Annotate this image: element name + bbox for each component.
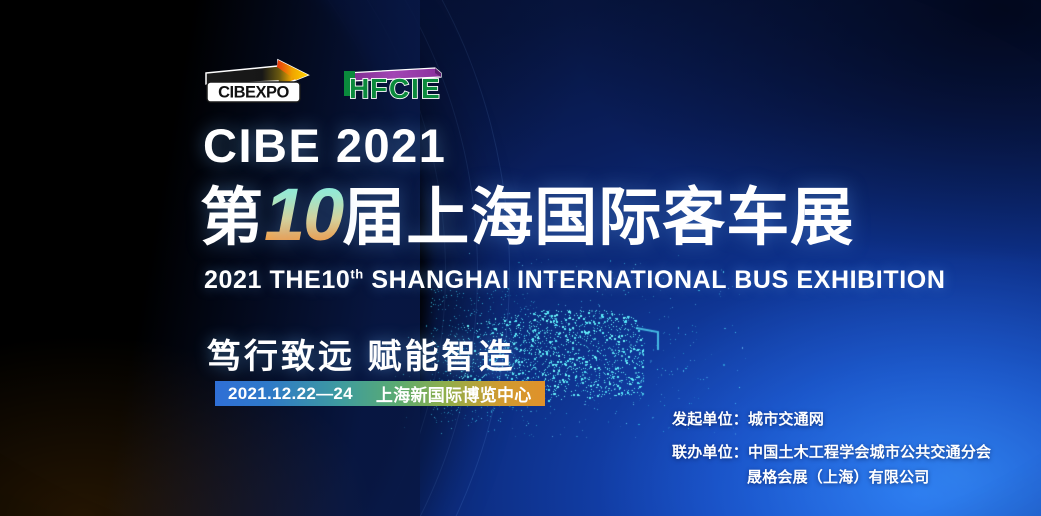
organizer-label: 联办单位： xyxy=(672,441,748,465)
svg-text:E: E xyxy=(421,73,439,104)
slogan-text: 笃行致远 赋能智造 xyxy=(207,329,515,378)
organizer-row: 联办单位： 中国土木工程学会城市公共交通分会 xyxy=(672,441,991,465)
subtitle-english: 2021 THE10th SHANGHAI INTERNATIONAL BUS … xyxy=(204,266,945,295)
subtitle-post: SHANGHAI INTERNATIONAL BUS EXHIBITION xyxy=(364,266,946,294)
organizer-value: 晟格会展（上海）有限公司 xyxy=(672,466,929,490)
event-venue: 上海新国际博览中心 xyxy=(376,381,532,406)
svg-text:CIBEXPO: CIBEXPO xyxy=(218,84,289,102)
organizer-value: 中国土木工程学会城市公共交通分会 xyxy=(748,441,991,465)
organizer-block: 发起单位： 城市交通网 联办单位： 中国土木工程学会城市公共交通分会 晟格会展（… xyxy=(672,408,991,490)
organizer-label: 发起单位： xyxy=(672,408,748,432)
organizer-row: 晟格会展（上海）有限公司 xyxy=(672,466,991,490)
svg-text:F: F xyxy=(370,73,387,104)
svg-text:H: H xyxy=(349,73,369,104)
title-cn-suffix: 届上海国际客车展 xyxy=(342,187,854,250)
hfcie-logo: H F C I E xyxy=(337,60,445,104)
organizer-value: 城市交通网 xyxy=(748,408,824,432)
title-english: CIBE 2021 xyxy=(203,122,446,169)
event-date: 2021.12.22—24 xyxy=(228,384,353,404)
edition-number: 10 xyxy=(262,178,344,252)
organizer-row: 发起单位： 城市交通网 xyxy=(672,408,991,432)
cibexpo-logo: CIBEXPO xyxy=(203,58,311,106)
svg-text:C: C xyxy=(389,73,409,104)
title-chinese: 第10届上海国际客车展 xyxy=(200,182,854,254)
exhibition-poster: CIBEXPO H F xyxy=(0,0,1041,516)
date-venue-bar: 2021.12.22—24 上海新国际博览中心 xyxy=(215,381,545,406)
logo-row: CIBEXPO H F xyxy=(203,58,445,106)
svg-text:I: I xyxy=(411,73,418,104)
subtitle-ordinal: th xyxy=(350,267,363,282)
subtitle-pre: 2021 THE10 xyxy=(204,266,350,294)
title-cn-prefix: 第 xyxy=(200,187,264,250)
